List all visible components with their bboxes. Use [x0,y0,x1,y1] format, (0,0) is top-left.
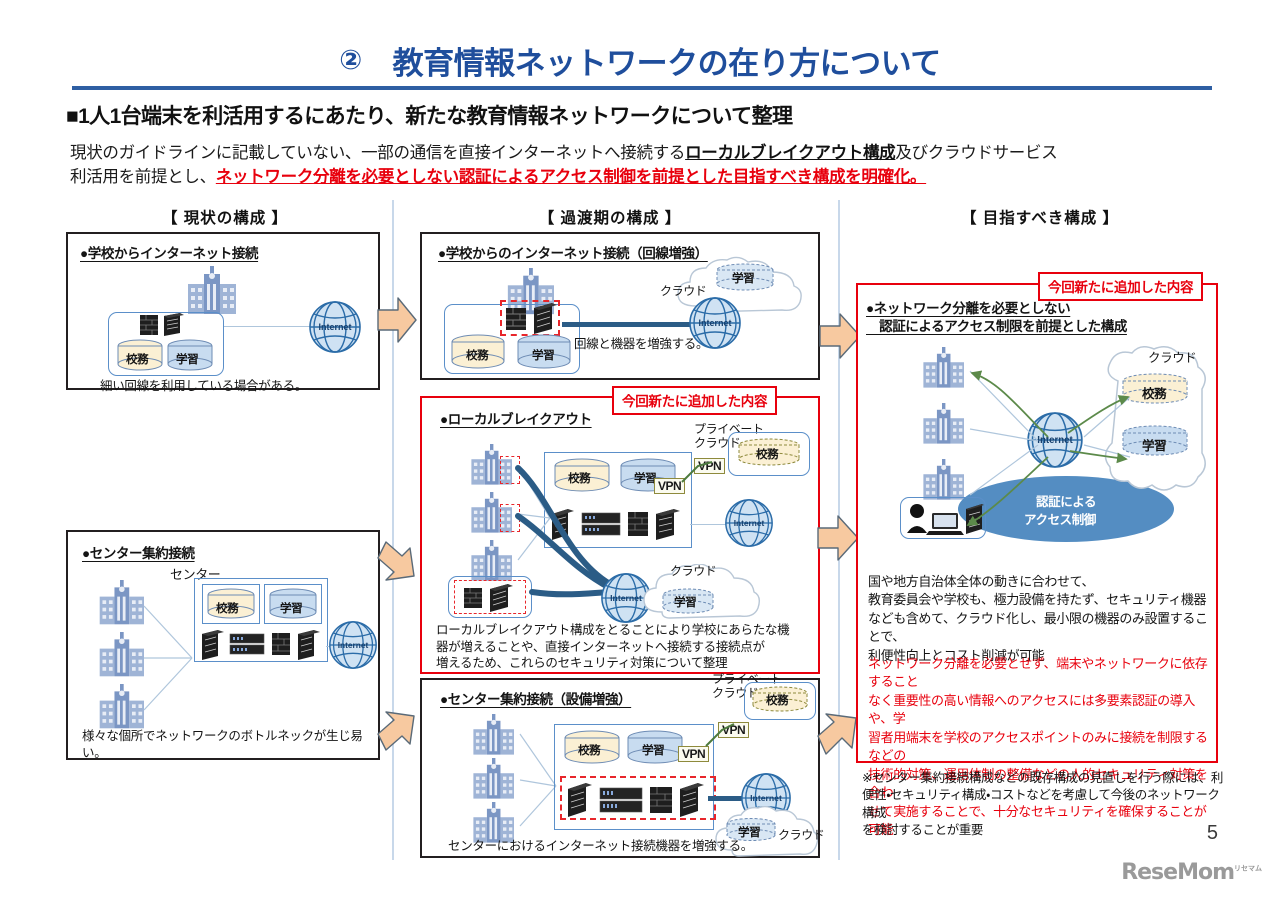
svg-text:Internet: Internet [1037,435,1073,446]
logo-text: ReseMom [1121,860,1234,885]
panel-target-architecture: ●ネットワーク分離を必要としない 認証によるアクセス制限を前提とした構成 認証に… [856,283,1218,763]
db-label-gakushu-upgraded: 学習 [532,347,554,363]
internet-globe-icon-target: Internet [1026,411,1084,469]
vpn-tunnel-link-lb [678,456,718,490]
security-line1: ネットワーク分離を必要とせず、端末やネットワークに依存すること [868,656,1207,689]
lb-note-line1: ローカルブレイクアウト構成をとることにより学校にあらたな機 [436,623,789,637]
internet-globe-icon-lb-right: Internet [724,498,774,548]
resemom-logo: ReseMomリセマム [1121,860,1262,885]
benefit-line1: 国や地方自治体全体の動きに合わせて、 [868,574,1094,589]
flow-arrow-mid-right [816,510,860,566]
internet-globe-icon-center: Internet [328,620,378,670]
benefit-line3: なども含めて、クラウド化し、最小限の機器のみ設置することで、 [868,611,1208,644]
school-building-tgt-1 [916,347,968,391]
security-line3: 習者用端末を学校のアクセスポイントのみに接続を制限するなどの [868,730,1208,763]
svg-text:Internet: Internet [318,322,351,332]
vpn-tunnel-link-ca [704,720,740,752]
footnote-line1: ※センター集約接続構成などの既存構成の見直しを行う際には、利 [862,771,1223,785]
page-number: 5 [1207,822,1218,845]
footnote-line3: を検討することが重要 [862,823,983,837]
svg-text:Internet: Internet [698,318,731,328]
panel-local-breakout: ●ローカルブレイクアウト [420,396,820,674]
panel-center-aggregation-note: 様々な個所でネットワークのボトルネックが生じ易い。 [82,728,378,761]
target-benefit-text: 国や地方自治体全体の動きに合わせて、 教育委員会や学校も、極力設備を持たず、セキ… [868,573,1212,665]
cloud-db-label-gakushu-target: 学習 [1142,435,1166,454]
panel-target-title-line2: 認証によるアクセス制限を前提とした構成 [866,315,1127,335]
subheading: ■1人1台端末を利活用するにあたり、新たな教育情報ネットワークについて整理 [66,100,1226,130]
center-db-label-gakushu: 学習 [280,600,302,616]
svg-text:Internet: Internet [338,640,369,650]
cloud-label-target: クラウド [1148,347,1196,366]
flow-arrow-bottom-right [812,708,860,764]
lb-note-line2: 器が増えることや、直接インターネットへ接続する接続点が [436,640,765,654]
panel-center-aggregation-upgraded: ●センター集約接続（設備増強） [420,678,820,858]
db-label-koumu: 校務 [126,351,148,367]
panel-school-internet-upgraded: ●学校からのインターネット接続（回線増強） 校務 [420,232,820,380]
school-building-icon [180,266,240,318]
private-cloud-db-label-koumu-lb: 校務 [756,446,778,462]
cloud-db-label-gakushu-upgraded: 学習 [732,270,754,286]
intro-paragraph: 現状のガイドラインに記載していない、一部の通信を直接インターネットへ接続するロー… [70,142,1220,190]
flow-arrow-top-left [376,292,418,348]
internet-globe-icon-upgraded: Internet [688,296,742,350]
slide-root: ② 教育情報ネットワークの在り方について ■1人1台端末を利活用するにあたり、新… [0,0,1280,901]
cloud-label-lb: クラウド [670,562,716,579]
internet-globe-icon: Internet [308,300,362,354]
panel-school-internet: ●学校からインターネット接続 [66,232,380,390]
panel-center-aggregation-upgraded-title: ●センター集約接続（設備増強） [440,688,631,708]
new-content-tag-local-breakout: 今回新たに追加した内容 [612,386,777,415]
intro-line2-part1: 利活用を前提とし、 [70,168,216,186]
benefit-line2: 教育委員会や学校も、極力設備を持たず、セキュリティ機器 [868,592,1206,607]
new-content-tag-target: 今回新たに追加した内容 [1038,272,1203,301]
db-label-koumu-upgraded: 校務 [466,347,488,363]
column-heading-transition: 【 過渡期の構成 】 [420,206,800,228]
flow-arrow-bottom-left [374,708,420,764]
cloud-label-ca: クラウド [778,826,824,843]
cloud-shape-target [1100,345,1212,493]
firewall-server-icons [140,313,186,337]
ca-private-cloud-db-label-koumu: 校務 [766,692,788,708]
panel-school-internet-title: ●学校からインターネット接続 [80,242,258,262]
ca-center-equipment-icons [566,780,708,818]
panel-local-breakout-title: ●ローカルブレイクアウト [440,408,592,428]
footnote-line2: 便性・セキュリティ構成・コストなどを考慮して今後のネットワーク構成 [862,788,1219,819]
panel-center-aggregation: ●センター集約接続 センター [66,530,380,760]
user-and-devices-icons [906,501,984,537]
security-line2: なく重要性の高い情報へのアクセスには多要素認証の導入や、学 [868,693,1195,726]
ca-db-label-koumu: 校務 [578,742,600,758]
title-number: ② [339,45,362,75]
page-title: ② 教育情報ネットワークの在り方について [0,38,1280,83]
ca-db-label-gakushu: 学習 [642,742,664,758]
panel-center-aggregation-upgraded-note: センターにおけるインターネット接続機器を増強する。 [448,838,753,855]
panel-local-breakout-note: ローカルブレイクアウト構成をとることにより学校にあらたな機 器が増えることや、直… [436,622,789,672]
panel-center-aggregation-title: ●センター集約接続 [82,542,195,562]
column-heading-target: 【 目指すべき構成 】 [860,206,1220,228]
db-label-gakushu: 学習 [176,351,198,367]
intro-line1-part1: 現状のガイドラインに記載していない、一部の通信を直接インターネットへ接続する [70,144,685,162]
flow-arrow-mid-left [374,528,420,584]
svg-text:Internet: Internet [734,518,765,528]
target-footnote: ※センター集約接続構成などの既存構成の見直しを行う際には、利 便性・セキュリティ… [862,770,1228,839]
school-to-center-links [138,592,198,722]
intro-line1-underlined: ローカルブレイクアウト構成 [685,144,895,162]
logo-superscript: リセマム [1234,865,1262,873]
intro-line1-part3: 及びクラウドサービス [895,144,1057,162]
school-building-ca-2 [466,758,518,802]
center-equipment-icons [200,628,324,662]
school-building-tgt-2 [916,403,968,447]
auth-label-line2: アクセス制御 [1024,509,1096,528]
svg-text:Internet: Internet [750,793,782,803]
lb-note-line3: 増えるため、これらのセキュリティ対策について整理 [436,656,727,670]
auth-label-line1: 認証による [1036,491,1096,510]
cloud-db-label-gakushu-lb: 学習 [674,594,696,610]
title-divider [72,86,1212,90]
title-text: 教育情報ネットワークの在り方について [393,46,941,81]
panel-school-internet-note: 細い回線を利用している場合がある。 [100,378,307,395]
firewall-server-icons-upgraded [504,302,558,334]
panel-school-internet-upgraded-title: ●学校からのインターネット接続（回線増強） [438,242,708,262]
link-school-to-internet [224,326,310,327]
school-building-ca-1 [466,714,518,758]
intro-line2-highlight: ネットワーク分離を必要としない認証によるアクセス制御を前提とした目指すべき構成を… [216,168,926,186]
center-db-label-koumu: 校務 [216,600,238,616]
column-heading-current: 【 現状の構成 】 [60,206,390,228]
cloud-db-label-koumu-target: 校務 [1142,383,1166,402]
